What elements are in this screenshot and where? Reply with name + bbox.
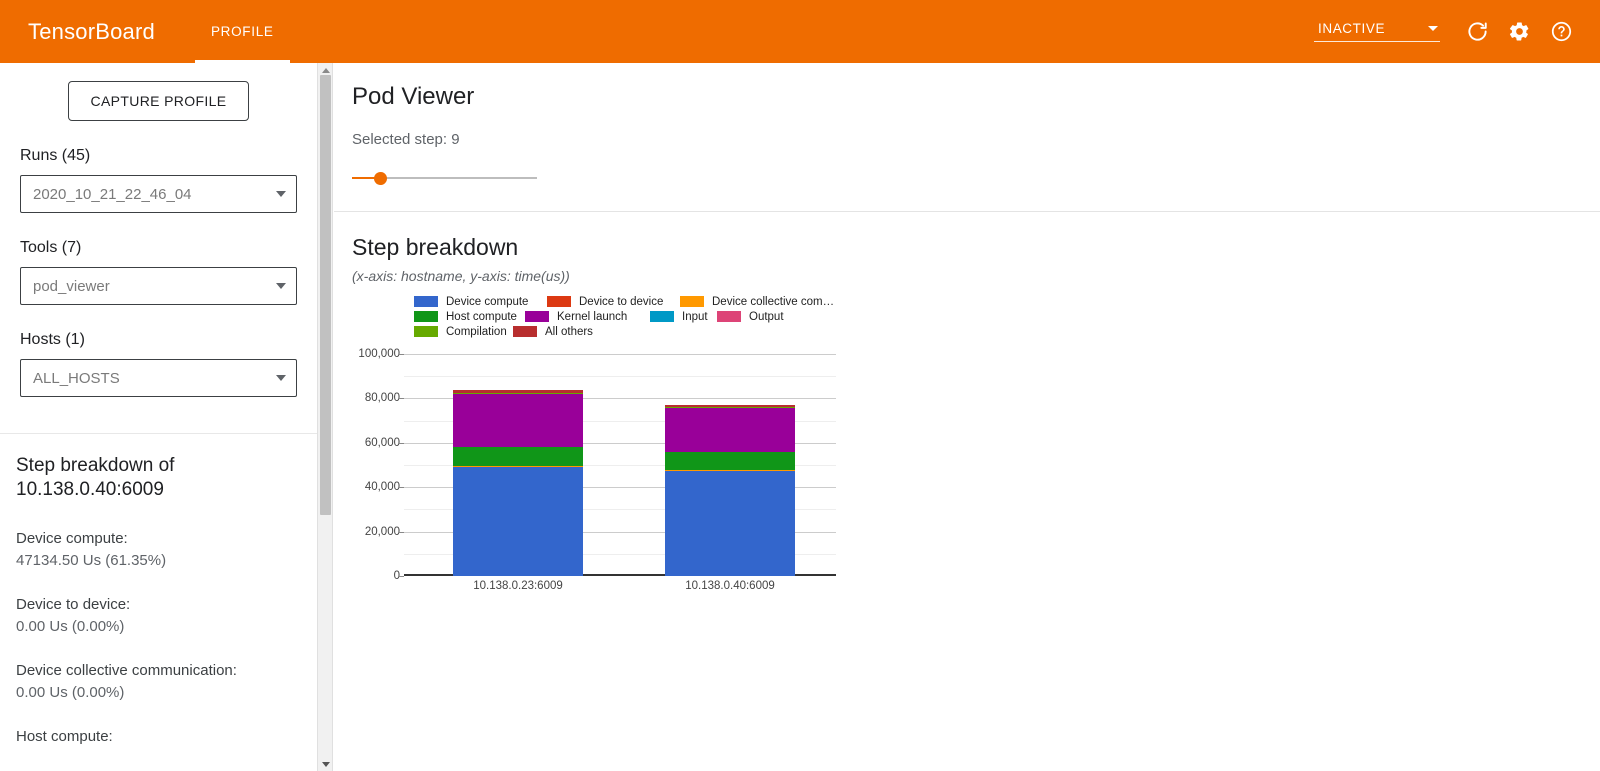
detail-key: Device compute: xyxy=(16,528,301,550)
page-header: Pod Viewer Selected step: 9 xyxy=(334,63,1600,190)
detail-device-collective-communication: Device collective communication: 0.00 Us… xyxy=(16,660,301,704)
help-icon xyxy=(1550,20,1573,43)
legend-item-device-collective-com[interactable]: Device collective com… xyxy=(680,296,834,308)
legend-swatch-icon xyxy=(650,311,674,322)
y-axis-tick-mark xyxy=(398,532,404,533)
legend-row: Host computeKernel launchInputOutput xyxy=(414,309,844,324)
y-axis-tick-label: 20,000 xyxy=(334,526,400,538)
step-slider-row xyxy=(352,166,1600,190)
runs-selected-value: 2020_10_21_22_46_04 xyxy=(33,186,192,203)
y-axis-tick-label: 0 xyxy=(334,570,400,582)
settings-button[interactable] xyxy=(1500,13,1538,51)
tab-profile-label: PROFILE xyxy=(211,24,274,39)
app-brand: TensorBoard xyxy=(28,19,155,45)
step-slider[interactable] xyxy=(352,166,537,190)
step-breakdown-chart: Device computeDevice to deviceDevice col… xyxy=(352,294,1252,604)
tools-selected-value: pod_viewer xyxy=(33,278,110,295)
legend-label: Device collective com… xyxy=(712,296,834,308)
bar-segment[interactable] xyxy=(453,467,583,576)
sidebar-scrollbar[interactable] xyxy=(318,63,333,771)
scrollbar-thumb[interactable] xyxy=(320,75,331,515)
detail-value: 0.00 Us (0.00%) xyxy=(16,682,301,704)
topbar-actions: INACTIVE xyxy=(1314,13,1600,51)
detail-device-compute: Device compute: 47134.50 Us (61.35%) xyxy=(16,528,301,572)
legend-item-input[interactable]: Input xyxy=(650,311,708,323)
legend-item-host-compute[interactable]: Host compute xyxy=(414,311,517,323)
legend-item-compilation[interactable]: Compilation xyxy=(414,326,507,338)
y-axis-tick-label: 100,000 xyxy=(334,348,400,360)
gear-icon xyxy=(1508,20,1531,43)
chevron-down-icon xyxy=(276,375,286,381)
runs-select[interactable]: 2020_10_21_22_46_04 xyxy=(20,175,297,213)
scroll-down-arrow-icon[interactable] xyxy=(318,757,333,771)
tools-label: Tools (7) xyxy=(20,239,297,257)
refresh-icon xyxy=(1466,20,1489,43)
top-app-bar: TensorBoard PROFILE INACTIVE xyxy=(0,0,1600,63)
runs-label: Runs (45) xyxy=(20,147,297,165)
gridline-major xyxy=(404,354,836,355)
chart-legend: Device computeDevice to deviceDevice col… xyxy=(414,294,844,339)
legend-label: Host compute xyxy=(446,311,517,323)
y-axis-tick-mark xyxy=(398,576,404,577)
bar-segment[interactable] xyxy=(665,471,795,576)
detail-value: 0.00 Us (0.00%) xyxy=(16,616,301,638)
legend-swatch-icon xyxy=(414,326,438,337)
step-breakdown-card: Step breakdown (x-axis: hostname, y-axis… xyxy=(334,212,1600,604)
page-title: Pod Viewer xyxy=(352,83,1600,111)
y-axis-tick-mark xyxy=(398,487,404,488)
bar-segment[interactable] xyxy=(665,452,795,470)
y-axis-tick-mark xyxy=(398,354,404,355)
details-title: Step breakdown of 10.138.0.40:6009 xyxy=(16,454,301,502)
legend-row: Device computeDevice to deviceDevice col… xyxy=(414,294,844,309)
step-breakdown-details: Step breakdown of 10.138.0.40:6009 Devic… xyxy=(0,434,317,748)
legend-swatch-icon xyxy=(414,311,438,322)
capture-profile-button[interactable]: CAPTURE PROFILE xyxy=(68,81,250,121)
legend-item-output[interactable]: Output xyxy=(717,311,784,323)
detail-host-compute: Host compute: xyxy=(16,726,301,748)
detail-key: Host compute: xyxy=(16,726,301,748)
chevron-down-icon xyxy=(276,191,286,197)
chevron-down-icon xyxy=(1428,26,1438,31)
detail-key: Device to device: xyxy=(16,594,301,616)
legend-label: Input xyxy=(682,311,708,323)
x-axis-tick-label: 10.138.0.23:6009 xyxy=(448,580,588,592)
legend-swatch-icon xyxy=(414,296,438,307)
legend-swatch-icon xyxy=(680,296,704,307)
bar-segment[interactable] xyxy=(453,394,583,448)
refresh-button[interactable] xyxy=(1458,13,1496,51)
capture-profile-row: CAPTURE PROFILE xyxy=(0,63,317,121)
hosts-selected-value: ALL_HOSTS xyxy=(33,370,120,387)
chart-bar[interactable] xyxy=(453,390,583,576)
legend-label: All others xyxy=(545,326,593,338)
chart-plot-area: 020,00040,00060,00080,000100,00010.138.0… xyxy=(404,354,836,576)
legend-label: Kernel launch xyxy=(557,311,627,323)
hosts-label: Hosts (1) xyxy=(20,331,297,349)
slider-knob[interactable] xyxy=(374,172,387,185)
legend-item-device-compute[interactable]: Device compute xyxy=(414,296,528,308)
legend-label: Compilation xyxy=(446,326,507,338)
legend-row: CompilationAll others xyxy=(414,324,844,339)
run-status-select[interactable]: INACTIVE xyxy=(1314,21,1440,42)
bar-segment[interactable] xyxy=(453,447,583,466)
main-content: Pod Viewer Selected step: 9 Step breakdo… xyxy=(334,63,1600,771)
legend-swatch-icon xyxy=(547,296,571,307)
detail-value: 47134.50 Us (61.35%) xyxy=(16,550,301,572)
x-axis-tick-label: 10.138.0.40:6009 xyxy=(660,580,800,592)
run-status-label: INACTIVE xyxy=(1318,21,1385,36)
y-axis-tick-label: 60,000 xyxy=(334,437,400,449)
legend-label: Device to device xyxy=(579,296,663,308)
card-title: Step breakdown xyxy=(352,234,1600,261)
y-axis-tick-label: 80,000 xyxy=(334,392,400,404)
legend-item-kernel-launch[interactable]: Kernel launch xyxy=(525,311,627,323)
hosts-field-group: Hosts (1) ALL_HOSTS xyxy=(0,331,317,397)
legend-swatch-icon xyxy=(717,311,741,322)
bar-segment[interactable] xyxy=(665,408,795,452)
y-axis-tick-mark xyxy=(398,443,404,444)
y-axis-tick-label: 40,000 xyxy=(334,481,400,493)
selected-step-label: Selected step: 9 xyxy=(352,131,1600,148)
detail-device-to-device: Device to device: 0.00 Us (0.00%) xyxy=(16,594,301,638)
tab-profile[interactable]: PROFILE xyxy=(195,0,290,63)
tools-select[interactable]: pod_viewer xyxy=(20,267,297,305)
hosts-select[interactable]: ALL_HOSTS xyxy=(20,359,297,397)
legend-swatch-icon xyxy=(513,326,537,337)
gridline-minor xyxy=(404,376,836,377)
legend-swatch-icon xyxy=(525,311,549,322)
left-sidebar: CAPTURE PROFILE Runs (45) 2020_10_21_22_… xyxy=(0,63,318,771)
legend-label: Device compute xyxy=(446,296,528,308)
nav-tabs: PROFILE xyxy=(195,0,290,63)
legend-item-device-to-device[interactable]: Device to device xyxy=(547,296,663,308)
runs-field-group: Runs (45) 2020_10_21_22_46_04 xyxy=(0,147,317,213)
y-axis-tick-mark xyxy=(398,398,404,399)
chart-bar[interactable] xyxy=(665,405,795,576)
tools-field-group: Tools (7) pod_viewer xyxy=(0,239,317,305)
legend-item-all-others[interactable]: All others xyxy=(513,326,593,338)
chevron-down-icon xyxy=(276,283,286,289)
detail-key: Device collective communication: xyxy=(16,660,301,682)
help-button[interactable] xyxy=(1542,13,1580,51)
legend-label: Output xyxy=(749,311,784,323)
card-subtitle: (x-axis: hostname, y-axis: time(us)) xyxy=(352,268,1600,284)
